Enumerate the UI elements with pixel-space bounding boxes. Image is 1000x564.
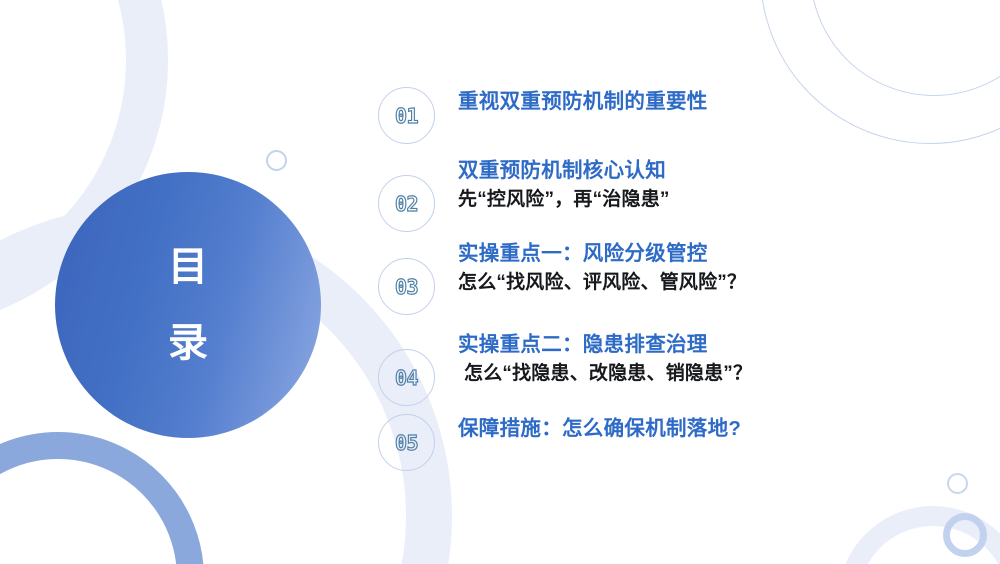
contents-title-char-1: 目 — [168, 247, 208, 287]
toc-subtitle-03: 怎么“找风险、评风险、管风险”？ — [458, 271, 746, 296]
toc-text-block-03: 实操重点一：风险分级管控 怎么“找风险、评风险、管风险”？ — [458, 239, 746, 296]
toc-number-badge-03: 03 — [378, 258, 435, 315]
toc-number-label-02: 02 — [395, 192, 418, 216]
toc-number-label-04: 04 — [395, 366, 418, 390]
bottom-left-blue-ring-shape — [0, 432, 204, 564]
toc-title-05: 保障措施：怎么确保机制落地? — [458, 416, 741, 441]
toc-text-block-05: 保障措施：怎么确保机制落地? — [458, 414, 741, 441]
toc-number-badge-04: 04 — [378, 349, 435, 406]
toc-item-03[interactable]: 03 实操重点一：风险分级管控 怎么“找风险、评风险、管风险”？ — [378, 239, 746, 315]
toc-item-01[interactable]: 01 重视双重预防机制的重要性 — [378, 87, 708, 144]
toc-number-badge-05: 05 — [378, 414, 435, 471]
toc-number-label-05: 05 — [395, 431, 418, 455]
bottom-right-pale-ring-shape — [838, 506, 1000, 564]
toc-item-02[interactable]: 02 双重预防机制核心认知 先“控风险”，再“治隐患” — [378, 156, 670, 232]
toc-text-block-02: 双重预防机制核心认知 先“控风险”，再“治隐患” — [458, 156, 670, 213]
top-right-inner-arc-shape — [810, 0, 1000, 96]
toc-number-label-01: 01 — [395, 104, 418, 128]
toc-title-03: 实操重点一：风险分级管控 — [458, 241, 746, 266]
top-right-outer-arc-shape — [760, 0, 1000, 144]
contents-title-char-2: 录 — [168, 323, 208, 363]
slide-canvas: 目 录 01 重视双重预防机制的重要性 02 双重预防机制核心认知 先“控风险”… — [0, 0, 1000, 564]
toc-subtitle-02: 先“控风险”，再“治隐患” — [458, 188, 670, 213]
center-left-small-ring-shape — [266, 150, 287, 171]
toc-item-05[interactable]: 05 保障措施：怎么确保机制落地? — [378, 414, 741, 471]
toc-title-04: 实操重点二：隐患排查治理 — [458, 332, 752, 357]
contents-title-circle: 目 录 — [55, 172, 321, 438]
toc-subtitle-04: 怎么“找隐患、改隐患、销隐患”？ — [458, 362, 752, 387]
toc-text-block-04: 实操重点二：隐患排查治理 怎么“找隐患、改隐患、销隐患”？ — [458, 330, 752, 387]
toc-text-block-01: 重视双重预防机制的重要性 — [458, 87, 708, 114]
bottom-right-small-ring-shape — [947, 473, 968, 494]
toc-title-02: 双重预防机制核心认知 — [458, 158, 670, 183]
toc-number-badge-01: 01 — [378, 87, 435, 144]
toc-item-04[interactable]: 04 实操重点二：隐患排查治理 怎么“找隐患、改隐患、销隐患”？ — [378, 330, 752, 406]
toc-number-badge-02: 02 — [378, 175, 435, 232]
toc-number-label-03: 03 — [395, 275, 418, 299]
toc-title-01: 重视双重预防机制的重要性 — [458, 89, 708, 114]
bottom-right-medium-ring-shape — [943, 513, 987, 557]
